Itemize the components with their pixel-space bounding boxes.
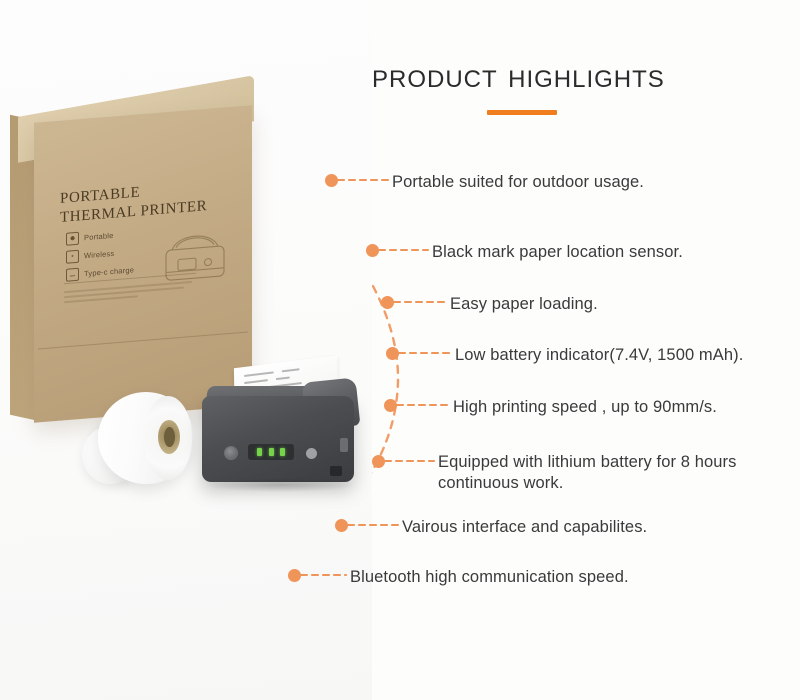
highlight-item-bluetooth: Bluetooth high communication speed.: [350, 567, 629, 588]
highlight-label: Bluetooth high communication speed.: [350, 567, 629, 588]
highlight-label: Easy paper loading.: [450, 294, 598, 315]
highlight-label: Black mark paper location sensor.: [432, 242, 683, 263]
highlight-item-blackmark: Black mark paper location sensor.: [432, 242, 683, 263]
highlight-label: Portable suited for outdoor usage.: [392, 172, 644, 193]
highlight-label: Equipped with lithium battery for 8 hour…: [438, 452, 798, 494]
highlight-texts: Portable suited for outdoor usage.Black …: [0, 0, 800, 700]
highlight-item-speed: High printing speed , up to 90mm/s.: [453, 397, 717, 418]
highlight-item-interface: Vairous interface and capabilites.: [402, 517, 647, 538]
highlight-label: Vairous interface and capabilites.: [402, 517, 647, 538]
highlight-label: High printing speed , up to 90mm/s.: [453, 397, 717, 418]
highlight-item-lithium: Equipped with lithium battery for 8 hour…: [438, 452, 798, 494]
highlight-item-loading: Easy paper loading.: [450, 294, 598, 315]
highlight-item-battery: Low battery indicator(7.4V, 1500 mAh).: [455, 345, 743, 366]
highlight-label: Low battery indicator(7.4V, 1500 mAh).: [455, 345, 743, 366]
product-highlights-slide: PORTABLE THERMAL PRINTER ☻ Portable ⋆ Wi…: [0, 0, 800, 700]
highlight-item-portable: Portable suited for outdoor usage.: [392, 172, 644, 193]
